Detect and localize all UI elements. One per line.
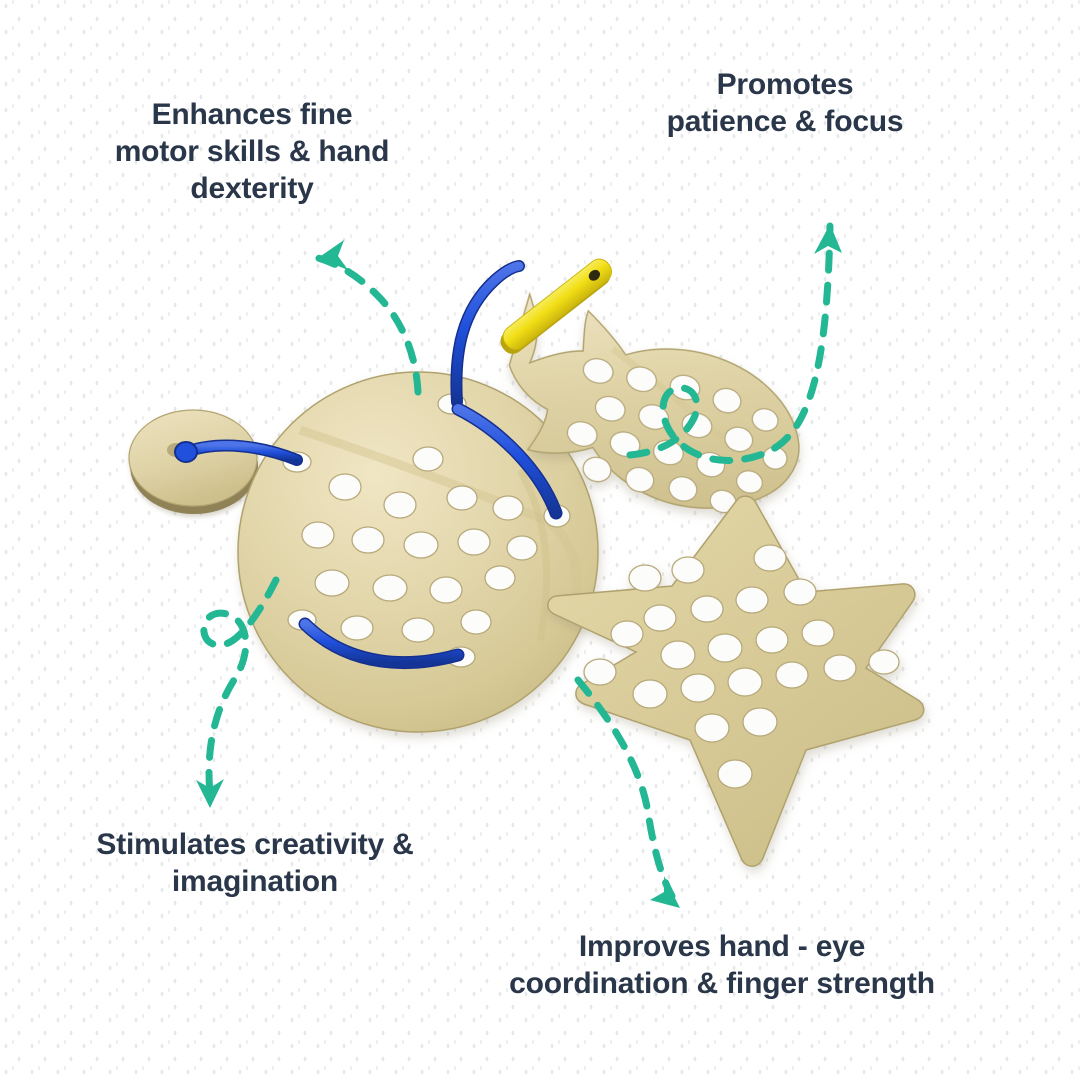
caption-enhances-fine-motor: Enhances fine motor skills & hand dexter… [72,96,432,208]
caption-promotes-patience: Promotes patience & focus [620,66,950,140]
caption-improves-coordination: Improves hand - eye coordination & finge… [452,928,992,1002]
infographic-canvas: Enhances fine motor skills & hand dexter… [0,0,1080,1080]
caption-stimulates-creativity: Stimulates creativity & imagination [50,826,460,900]
piece-star-board [548,496,924,866]
piece-small-disc [129,410,258,514]
